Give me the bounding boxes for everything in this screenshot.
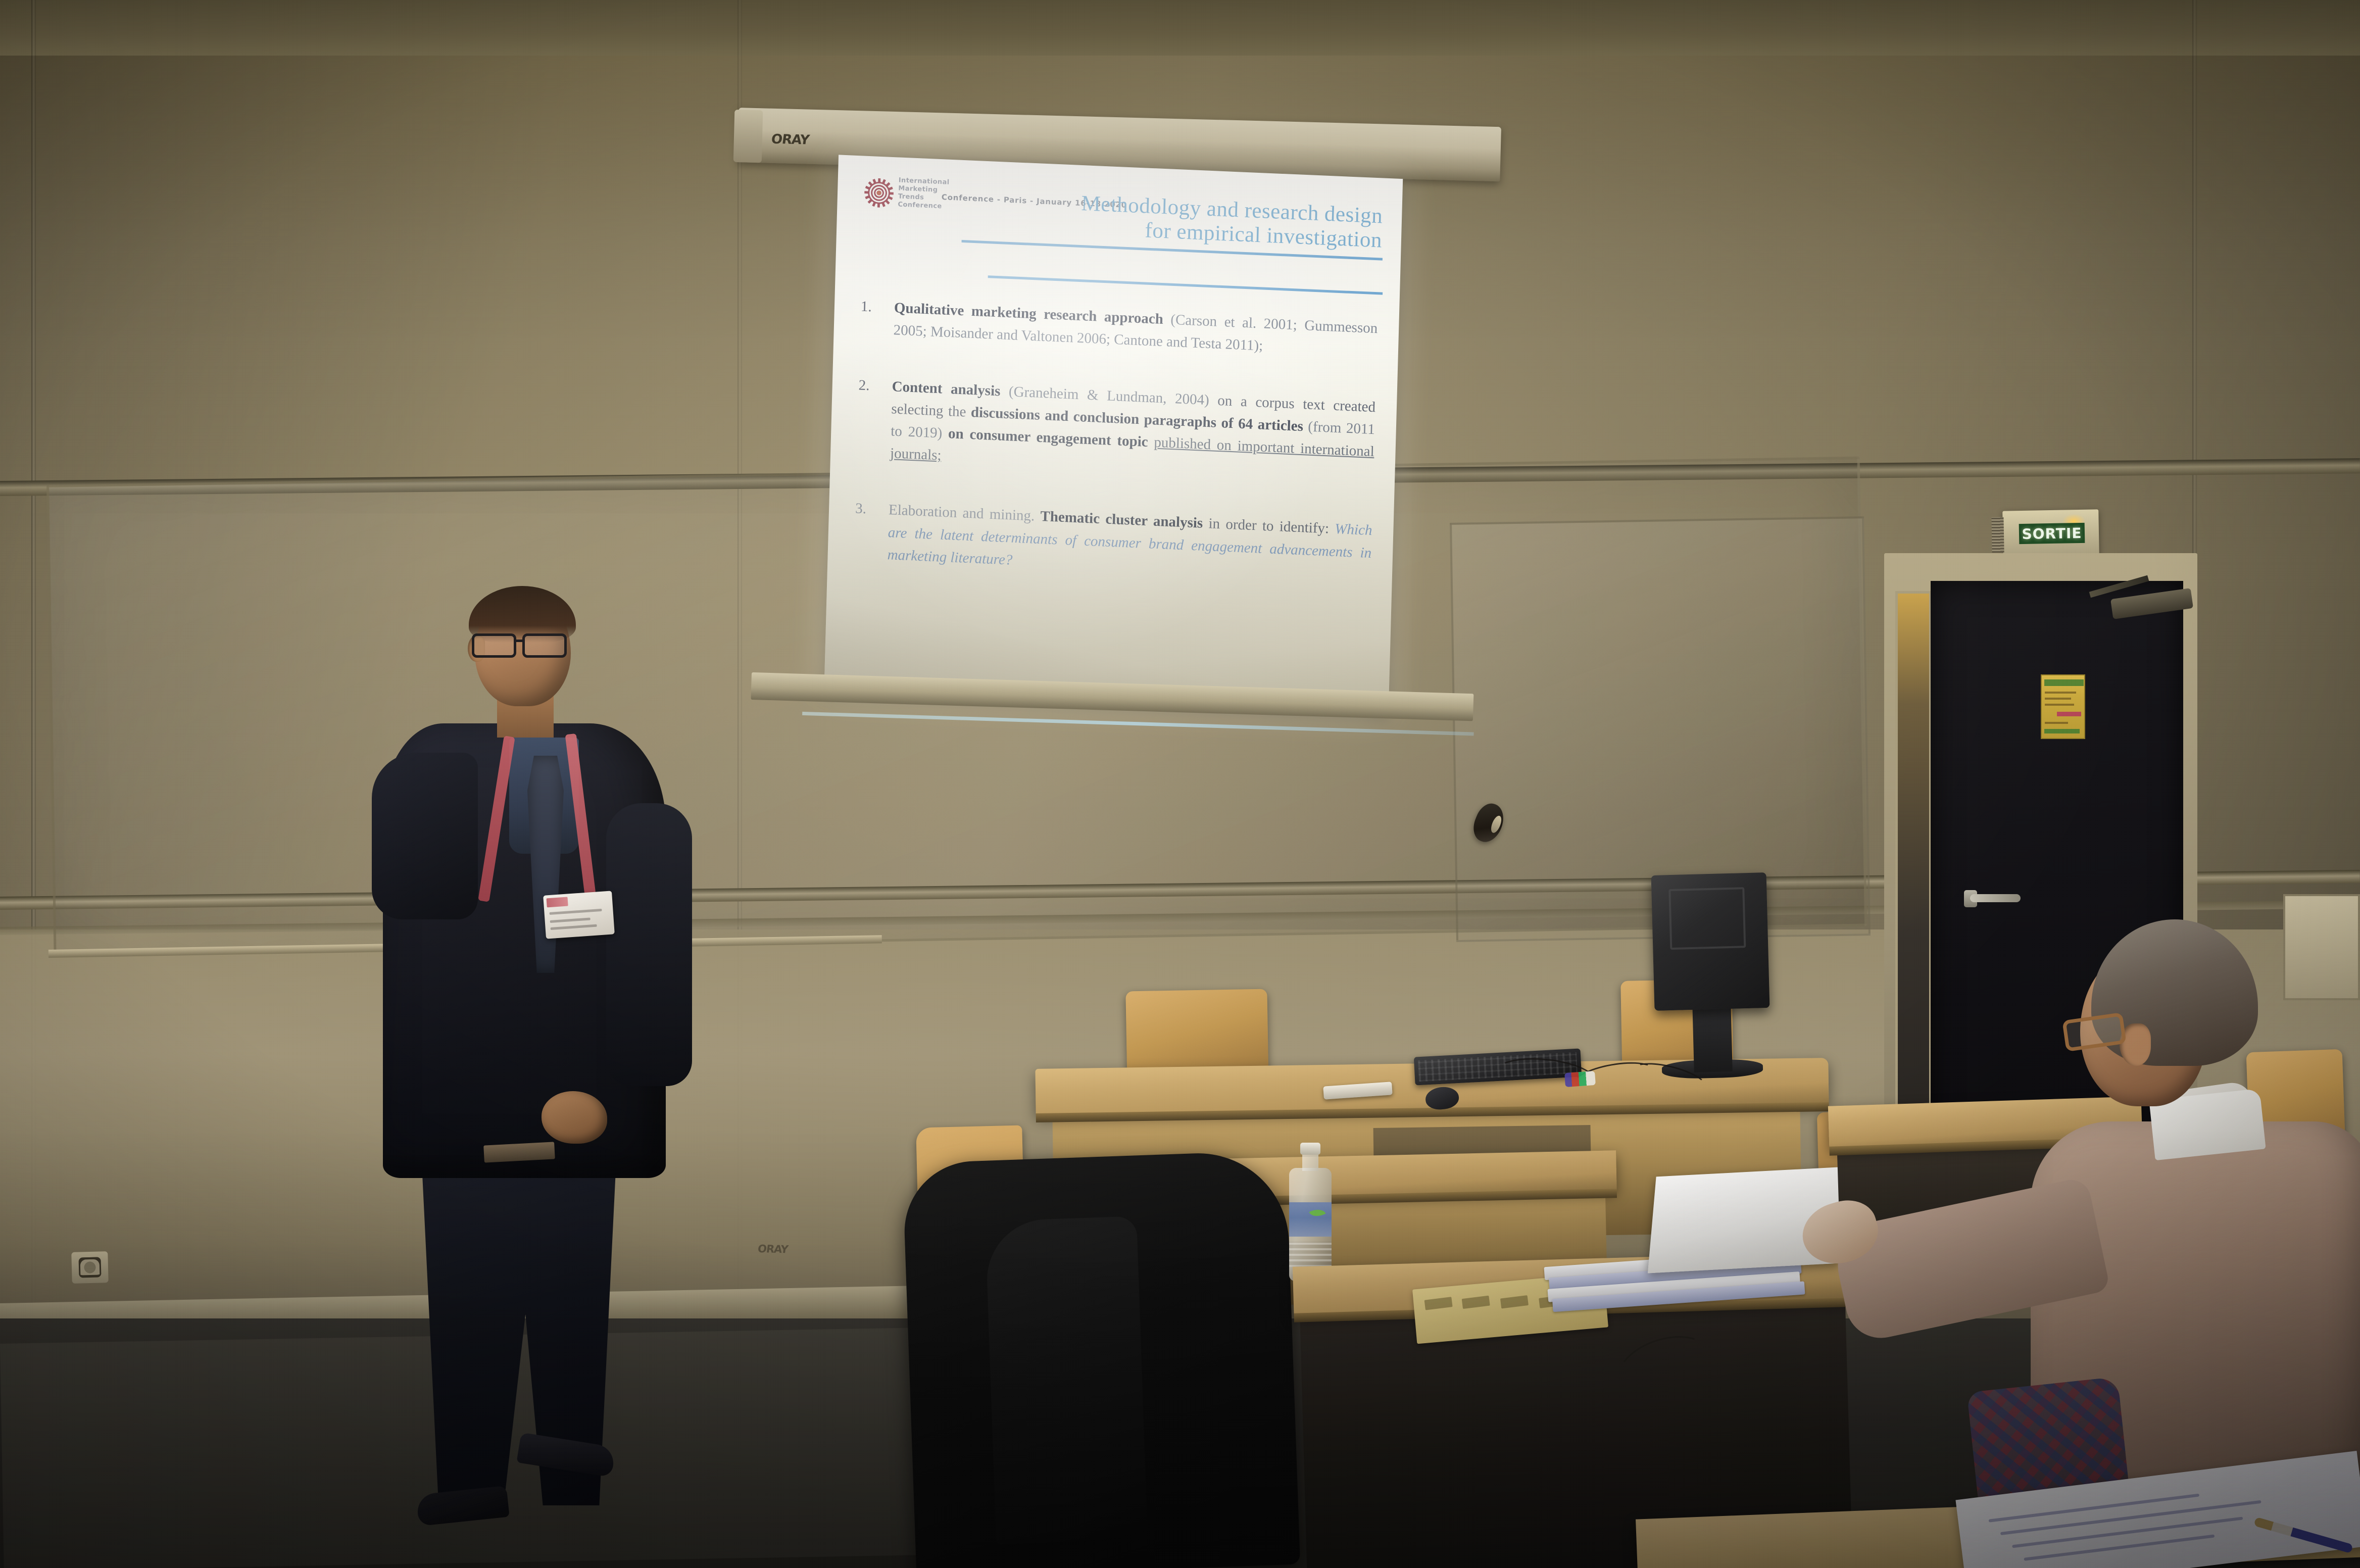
- bullet-3-text: Elaboration and mining. Thematic cluster…: [887, 499, 1372, 586]
- presenter-shoulder-left: [372, 753, 478, 919]
- slide-bullet-2: 2. Content analysis (Graneheim & Lundman…: [857, 374, 1376, 485]
- bottle-ridges: [1289, 1242, 1332, 1267]
- conference-room-photo: ORAY: [0, 0, 2360, 1568]
- slide-bullet-1: 1. Qualitative marketing research approa…: [860, 296, 1378, 362]
- exit-sign-label: SORTIE: [2019, 523, 2085, 544]
- presenter-arm-right: [606, 803, 692, 1086]
- exit-sign-grille: [1991, 517, 2004, 553]
- glasses-lens-right: [522, 633, 567, 658]
- presenter-name-badge: [543, 891, 615, 939]
- slide-body: 1. Qualitative marketing research approa…: [848, 295, 1382, 586]
- power-socket: [71, 1251, 108, 1284]
- presenter-shoe-left: [416, 1486, 509, 1526]
- usb-adapter-cluster: [1564, 1071, 1596, 1087]
- title-rule-lower: [988, 275, 1383, 295]
- projection-screen: ORAY: [726, 110, 1496, 726]
- slide-title: Methodology and research design for empi…: [1080, 191, 1383, 253]
- water-bottle[interactable]: [1289, 1146, 1332, 1281]
- monitor-stand-neck: [1692, 1001, 1733, 1072]
- bottle-cap: [1300, 1143, 1320, 1155]
- presenter-glasses: [470, 632, 581, 662]
- coat-on-chair: [902, 1150, 1300, 1568]
- wall-upper-band: [0, 0, 2360, 56]
- presenter: [323, 586, 707, 1536]
- glasses-bridge: [516, 640, 524, 642]
- computer-monitor: [1651, 872, 1770, 1011]
- bullet-3-plain: in order to identify:: [1208, 516, 1329, 537]
- monitor-vesa-mount: [1668, 887, 1746, 950]
- door-notice-sticker: [2041, 674, 2085, 739]
- bullet-2-mid-strong-2: on consumer engagement topic: [948, 425, 1148, 450]
- slide-bullet-3: 3. Elaboration and mining. Thematic clus…: [854, 498, 1372, 586]
- door-handle[interactable]: [1970, 894, 2021, 902]
- oray-brand-logo: ORAY: [770, 132, 810, 148]
- oray-brand-logo-bottom: ORAY: [757, 1243, 789, 1255]
- exit-sign: SORTIE: [2002, 509, 2099, 557]
- slide-header: International Marketing Trends Conferenc…: [856, 171, 1386, 274]
- imtc-gear-logo: [863, 177, 895, 209]
- bottle-label: [1289, 1202, 1332, 1237]
- bottle-leaf-icon: [1309, 1205, 1325, 1220]
- bullet-3-strong: Thematic cluster analysis: [1040, 509, 1203, 532]
- bullet-1-number: 1.: [860, 296, 882, 341]
- coat-fold: [985, 1216, 1148, 1544]
- bullet-1-text: Qualitative marketing research approach …: [893, 297, 1378, 362]
- bullet-2-number: 2.: [857, 374, 880, 464]
- bullet-2-strong: Content analysis: [892, 378, 1001, 399]
- bullet-2-text: Content analysis (Graneheim & Lundman, 2…: [890, 375, 1376, 485]
- screen-surface: International Marketing Trends Conferenc…: [824, 155, 1403, 714]
- bullet-3-lead: Elaboration and mining.: [889, 502, 1035, 524]
- glasses-lens-left: [472, 633, 516, 658]
- bullet-2-citation: (Graneheim & Lundman, 2004): [1009, 383, 1210, 408]
- screen-housing-end-cap: [733, 110, 763, 163]
- bullet-3-number: 3.: [854, 498, 877, 565]
- badge-logo-mark: [547, 897, 568, 907]
- presentation-slide: International Marketing Trends Conferenc…: [824, 155, 1403, 714]
- presenter-hand: [542, 1091, 607, 1144]
